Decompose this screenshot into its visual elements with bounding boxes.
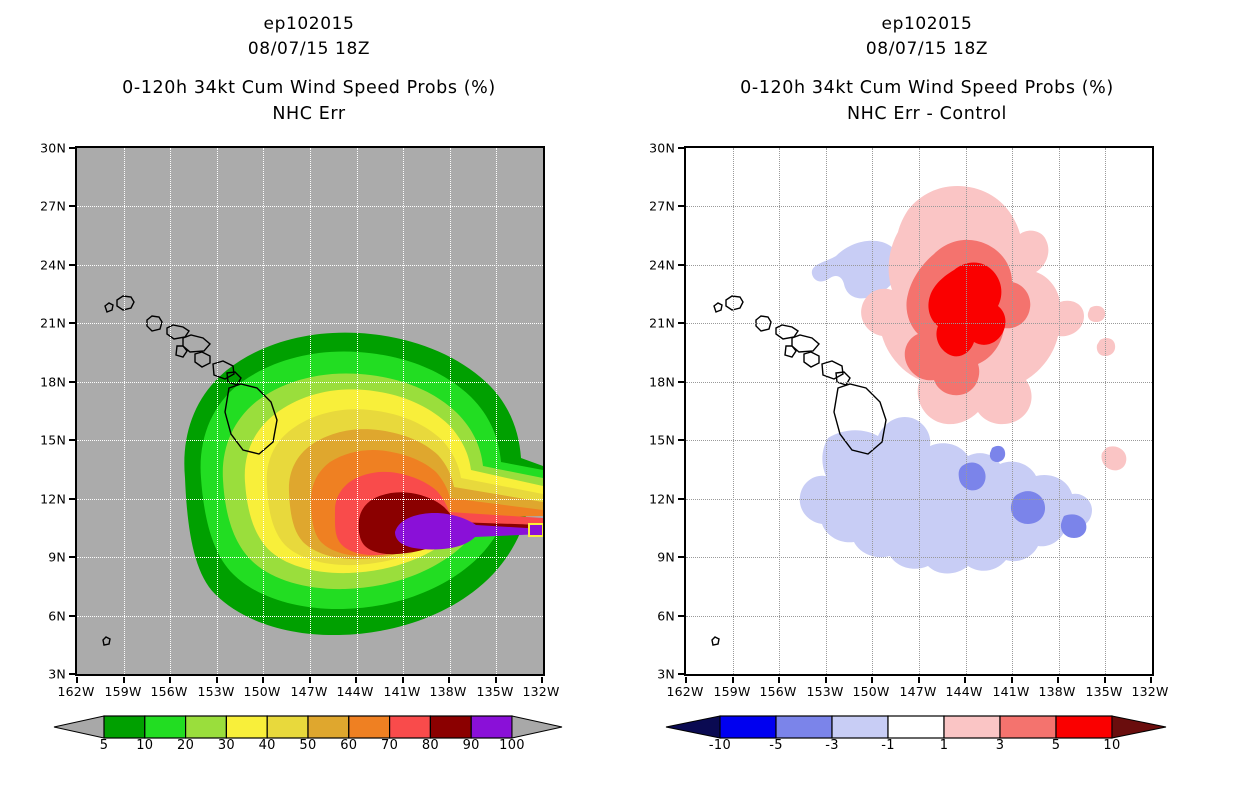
left-gridline-x-147W <box>310 148 311 674</box>
right-gridline-x-147W <box>919 148 920 674</box>
right-gridline-x-144W <box>966 148 967 674</box>
right-cb-label-3: 3 <box>996 738 1005 753</box>
right-cb-label-neg3: -3 <box>825 738 839 753</box>
left-xlabel-153W: 153W <box>197 684 234 699</box>
right-ylabel-21N: 21N <box>627 316 675 331</box>
left-xlabel-138W: 138W <box>429 684 466 699</box>
left-xlabel-156W: 156W <box>150 684 187 699</box>
left-gridline-y-6N <box>77 616 543 617</box>
left-xlabel-162W: 162W <box>57 684 94 699</box>
left-xlabel-147W: 147W <box>290 684 327 699</box>
right-chart-subtitle: NHC Err - Control <box>618 101 1236 127</box>
right-cb-label-5: 5 <box>1052 738 1061 753</box>
left-chart-subtitle: NHC Err <box>0 101 618 127</box>
left-gridline-y-15N <box>77 440 543 441</box>
right-xlabel-159W: 159W <box>713 684 750 699</box>
right-colorbar-cap-high <box>1112 716 1166 738</box>
right-chart-title: 0-120h 34kt Cum Wind Speed Probs (%) <box>618 75 1236 101</box>
right-ylabel-12N: 12N <box>627 492 675 507</box>
right-ylabel-18N: 18N <box>627 375 675 390</box>
left-title-block: ep102015 08/07/15 18Z 0-120h 34kt Cum Wi… <box>0 12 618 127</box>
right-ylabel-15N: 15N <box>627 433 675 448</box>
left-colorbar: 5 10 20 30 40 50 60 70 80 90 100 <box>48 712 568 742</box>
right-xlabel-156W: 156W <box>759 684 796 699</box>
right-colorbar: -10 -5 -3 -1 1 3 5 10 <box>660 712 1180 742</box>
left-ylabel-24N: 24N <box>18 258 66 273</box>
right-cb-label-1: 1 <box>940 738 949 753</box>
left-xlabel-132W: 132W <box>522 684 559 699</box>
right-gridline-y-15N <box>686 440 1152 441</box>
left-gridline-x-141W <box>403 148 404 674</box>
right-xlabel-162W: 162W <box>666 684 703 699</box>
left-gridline-x-159W <box>124 148 125 674</box>
left-chart-title: 0-120h 34kt Cum Wind Speed Probs (%) <box>0 75 618 101</box>
right-gridline-x-156W <box>779 148 780 674</box>
left-plot-frame <box>75 146 545 676</box>
left-ylabel-3N: 3N <box>18 667 66 682</box>
right-ylabel-30N: 30N <box>627 141 675 156</box>
right-xlabel-150W: 150W <box>852 684 889 699</box>
left-cb-label-30: 30 <box>218 738 235 753</box>
left-ylabel-6N: 6N <box>18 609 66 624</box>
left-ylabel-21N: 21N <box>18 316 66 331</box>
left-storm-id: ep102015 <box>0 12 618 37</box>
left-gridline-y-24N <box>77 265 543 266</box>
left-cb-label-70: 70 <box>381 738 398 753</box>
right-gridline-y-24N <box>686 265 1152 266</box>
left-gridline-x-153W <box>217 148 218 674</box>
right-gridline-y-27N <box>686 206 1152 207</box>
left-xlabel-141W: 141W <box>383 684 420 699</box>
right-xlabel-138W: 138W <box>1038 684 1075 699</box>
right-xlabel-153W: 153W <box>806 684 843 699</box>
right-title-block: ep102015 08/07/15 18Z 0-120h 34kt Cum Wi… <box>618 12 1236 127</box>
left-ylabel-12N: 12N <box>18 492 66 507</box>
right-ylabel-24N: 24N <box>627 258 675 273</box>
left-ylabel-15N: 15N <box>18 433 66 448</box>
right-gridline-x-150W <box>872 148 873 674</box>
right-gridline-x-138W <box>1059 148 1060 674</box>
left-gridline-x-138W <box>450 148 451 674</box>
right-gridline-y-12N <box>686 499 1152 500</box>
left-cb-label-100: 100 <box>499 738 525 753</box>
left-gridline-y-12N <box>77 499 543 500</box>
left-xlabel-150W: 150W <box>243 684 280 699</box>
right-storm-id: ep102015 <box>618 12 1236 37</box>
right-gridline-y-9N <box>686 557 1152 558</box>
right-xlabel-135W: 135W <box>1085 684 1122 699</box>
figure-root: ep102015 08/07/15 18Z 0-120h 34kt Cum Wi… <box>0 0 1236 800</box>
right-gridline-x-153W <box>826 148 827 674</box>
left-xlabel-159W: 159W <box>104 684 141 699</box>
left-colorbar-cap-low <box>54 716 104 738</box>
left-cb-label-20: 20 <box>177 738 194 753</box>
panel-nhc-err: ep102015 08/07/15 18Z 0-120h 34kt Cum Wi… <box>0 0 618 800</box>
left-plot-area <box>75 146 545 676</box>
left-ylabel-18N: 18N <box>18 375 66 390</box>
right-gridline-y-21N <box>686 323 1152 324</box>
left-gridline-y-27N <box>77 206 543 207</box>
left-cb-label-50: 50 <box>299 738 316 753</box>
right-gridline-x-135W <box>1105 148 1106 674</box>
left-cb-label-10: 10 <box>136 738 153 753</box>
right-xlabel-144W: 144W <box>945 684 982 699</box>
right-plot-frame <box>684 146 1154 676</box>
right-xlabel-147W: 147W <box>899 684 936 699</box>
right-gridline-x-159W <box>733 148 734 674</box>
left-gridline-x-156W <box>170 148 171 674</box>
right-gridline-x-141W <box>1012 148 1013 674</box>
right-colorbar-cap-low <box>666 716 720 738</box>
left-gridline-y-18N <box>77 382 543 383</box>
left-cb-label-90: 90 <box>463 738 480 753</box>
right-cb-label-neg1: -1 <box>881 738 895 753</box>
left-cb-label-5: 5 <box>100 738 109 753</box>
right-cb-label-neg10: -10 <box>709 738 731 753</box>
left-cb-label-60: 60 <box>340 738 357 753</box>
right-cb-label-10: 10 <box>1103 738 1120 753</box>
right-xlabel-141W: 141W <box>992 684 1029 699</box>
left-gridline-x-150W <box>263 148 264 674</box>
left-ylabel-30N: 30N <box>18 141 66 156</box>
right-xlabel-132W: 132W <box>1131 684 1168 699</box>
left-ylabel-9N: 9N <box>18 550 66 565</box>
right-ylabel-9N: 9N <box>627 550 675 565</box>
left-xlabel-144W: 144W <box>336 684 373 699</box>
left-gridline-x-135W <box>496 148 497 674</box>
left-colorbar-cap-high <box>512 716 562 738</box>
left-ylabel-27N: 27N <box>18 199 66 214</box>
panel-nhc-err-minus-control: ep102015 08/07/15 18Z 0-120h 34kt Cum Wi… <box>618 0 1236 800</box>
left-gridline-x-144W <box>357 148 358 674</box>
left-gridline-y-9N <box>77 557 543 558</box>
left-gridline-y-21N <box>77 323 543 324</box>
right-plot-area <box>684 146 1154 676</box>
left-cb-label-40: 40 <box>259 738 276 753</box>
left-cb-label-80: 80 <box>422 738 439 753</box>
right-datetime: 08/07/15 18Z <box>618 37 1236 62</box>
right-ylabel-27N: 27N <box>627 199 675 214</box>
right-ylabel-6N: 6N <box>627 609 675 624</box>
right-ylabel-3N: 3N <box>627 667 675 682</box>
right-gridline-y-18N <box>686 382 1152 383</box>
left-xlabel-135W: 135W <box>476 684 513 699</box>
right-cb-label-neg5: -5 <box>769 738 783 753</box>
right-gridline-y-6N <box>686 616 1152 617</box>
left-datetime: 08/07/15 18Z <box>0 37 618 62</box>
